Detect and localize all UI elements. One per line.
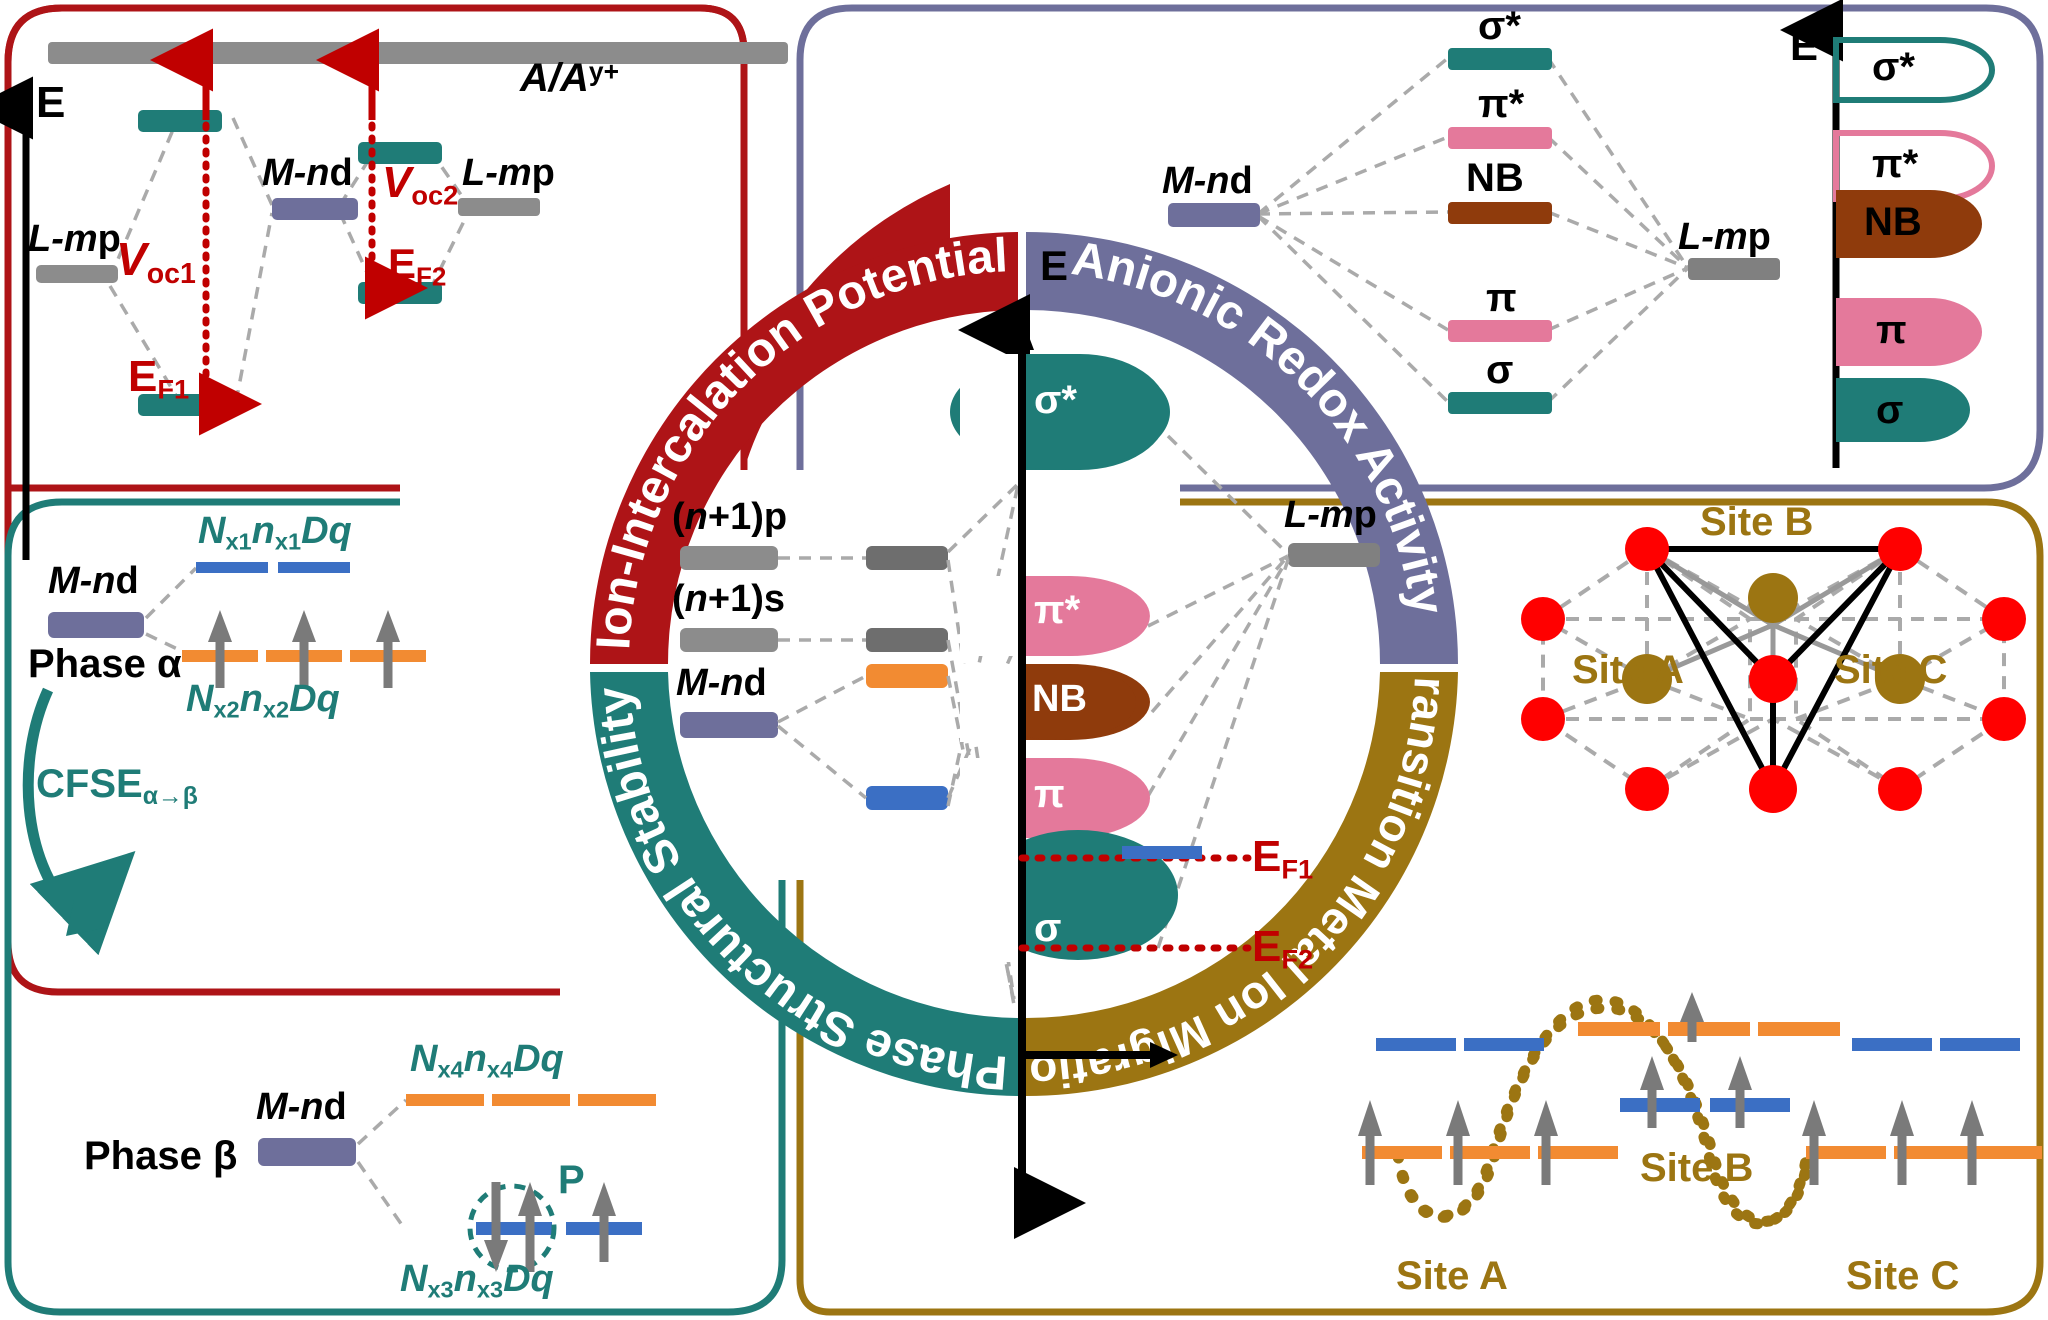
tr-level-sigma bbox=[1448, 392, 1552, 414]
tl-axis-label-E: E bbox=[36, 78, 65, 128]
tl-label-voc1: Voc1 bbox=[116, 232, 196, 291]
tr-mo-label-pi: π bbox=[1486, 276, 1517, 321]
tr-label-Lmp: L-mp bbox=[1678, 216, 1771, 259]
tr-mo-label-sigma-star: σ* bbox=[1478, 4, 1521, 49]
bl-beta-Mnd bbox=[258, 1138, 356, 1166]
bl-term-nx1: Nx1nx1Dq bbox=[198, 510, 352, 556]
bl-label-cfse: CFSEα→β bbox=[36, 762, 198, 811]
br-energy-label-site-b: Site B bbox=[1640, 1146, 1753, 1191]
bl-beta-t2g-1 bbox=[406, 1094, 484, 1106]
br-lattice-label-site-a: Site A bbox=[1572, 648, 1684, 693]
br-lattice-label-site-c: Site C bbox=[1834, 648, 1947, 693]
tr-band-label-sigma-star: σ* bbox=[1872, 45, 1915, 90]
center-mid-level-p bbox=[866, 546, 948, 570]
center-band-label-pi-star: π* bbox=[1034, 588, 1080, 633]
tl-label-Mnd: M-nd bbox=[262, 152, 353, 195]
center-label-ef2: EF2 bbox=[1252, 922, 1313, 976]
tl-anode-band bbox=[48, 42, 788, 64]
center-band-label-sigma-star: σ* bbox=[1034, 378, 1077, 423]
tr-mo-label-nb: NB bbox=[1466, 156, 1524, 201]
tl-label-voc2: Voc2 bbox=[382, 158, 458, 212]
tr-mo-label-sigma: σ bbox=[1486, 348, 1513, 393]
bl-term-nx4: Nx4nx4Dq bbox=[410, 1038, 564, 1084]
center-label-Mnd: M-nd bbox=[676, 662, 767, 705]
br-siteC bbox=[1802, 1038, 2042, 1185]
tr-axis-label-E: E bbox=[1790, 22, 1818, 70]
center-band-label-nb: NB bbox=[1032, 678, 1087, 721]
tr-label-Mnd: M-nd bbox=[1162, 160, 1253, 203]
bl-label-Mnd-beta: M-nd bbox=[256, 1086, 347, 1129]
bl-beta-t2g-2 bbox=[492, 1094, 570, 1106]
tr-dos-pi bbox=[1836, 298, 1982, 366]
br-energy-label-site-a: Site A bbox=[1396, 1254, 1508, 1299]
center-level-Lmp bbox=[1288, 543, 1380, 567]
center-band-label-pi: π bbox=[1034, 772, 1065, 817]
tl-level-Lmp-right bbox=[458, 198, 540, 216]
br-energy-profile bbox=[1122, 846, 2042, 1224]
center-mid-level-s bbox=[866, 628, 948, 652]
tl-label-ef2: EF2 bbox=[388, 240, 446, 292]
br-a-eg-1 bbox=[1122, 846, 1202, 859]
center-level-np1p bbox=[680, 546, 778, 570]
bl-label-phase-beta: Phase β bbox=[84, 1134, 237, 1179]
br-lattice-label-site-b: Site B bbox=[1700, 500, 1813, 545]
center-level-Mnd bbox=[680, 712, 778, 738]
center-band-label-sigma: σ bbox=[1034, 906, 1061, 951]
center-label-ef1: EF1 bbox=[1252, 832, 1313, 886]
center-label-np1s: (n+1)s bbox=[672, 578, 785, 621]
tr-band-label-pi-star: π* bbox=[1872, 142, 1918, 187]
tl-label-Lmp-right: L-mp bbox=[462, 152, 555, 195]
bl-label-phase-alpha: Phase α bbox=[28, 642, 182, 687]
tr-band-label-pi: π bbox=[1876, 308, 1907, 353]
tl-anode-label: A/Ay+ bbox=[520, 56, 619, 101]
bl-alpha-Mnd bbox=[48, 612, 144, 638]
bl-label-Mnd-alpha: M-nd bbox=[48, 560, 139, 603]
tl-level-Mnd bbox=[272, 198, 358, 220]
center-mid-level-blue bbox=[866, 786, 948, 810]
bl-beta-eg-1 bbox=[476, 1222, 552, 1235]
tr-level-sigma-star bbox=[1448, 48, 1552, 70]
br-energy-label-site-c: Site C bbox=[1846, 1254, 1959, 1299]
center-label-np1p: (n+1)p bbox=[672, 496, 787, 539]
tl-level-Lmp-left bbox=[36, 265, 118, 283]
tr-level-Lmp bbox=[1688, 258, 1780, 280]
bl-alpha-eg-2 bbox=[278, 562, 350, 573]
tr-mo-label-pi-star: π* bbox=[1478, 82, 1524, 127]
tr-band-label-nb: NB bbox=[1864, 200, 1922, 245]
center-mid-level-orange bbox=[866, 664, 948, 688]
bl-term-nx2: Nx2nx2Dq bbox=[186, 678, 340, 724]
figure-canvas: Ion-Intercalation Potential Anionic Redo… bbox=[0, 0, 2048, 1320]
bl-alpha-eg-1 bbox=[196, 562, 268, 573]
tr-level-Mnd bbox=[1168, 203, 1260, 227]
tl-label-ef1: EF1 bbox=[128, 352, 189, 406]
center-label-Lmp: L-mp bbox=[1284, 494, 1377, 537]
bl-term-nx3: Nx3nx3Dq bbox=[400, 1258, 554, 1304]
tl-label-Lmp-left: L-mp bbox=[28, 218, 121, 261]
center-level-np1s bbox=[680, 628, 778, 652]
tr-band-label-sigma: σ bbox=[1876, 388, 1903, 433]
tr-level-pi-star bbox=[1448, 127, 1552, 149]
tr-level-nb bbox=[1448, 202, 1552, 224]
bl-label-pairing-P: P bbox=[558, 1158, 585, 1203]
center-axis-label-E: E bbox=[1040, 242, 1068, 290]
bl-alpha-spin-arrows bbox=[208, 610, 400, 688]
bl-beta-t2g-3 bbox=[578, 1094, 656, 1106]
tr-level-pi bbox=[1448, 320, 1552, 342]
br-site-b-metal bbox=[1748, 573, 1798, 623]
